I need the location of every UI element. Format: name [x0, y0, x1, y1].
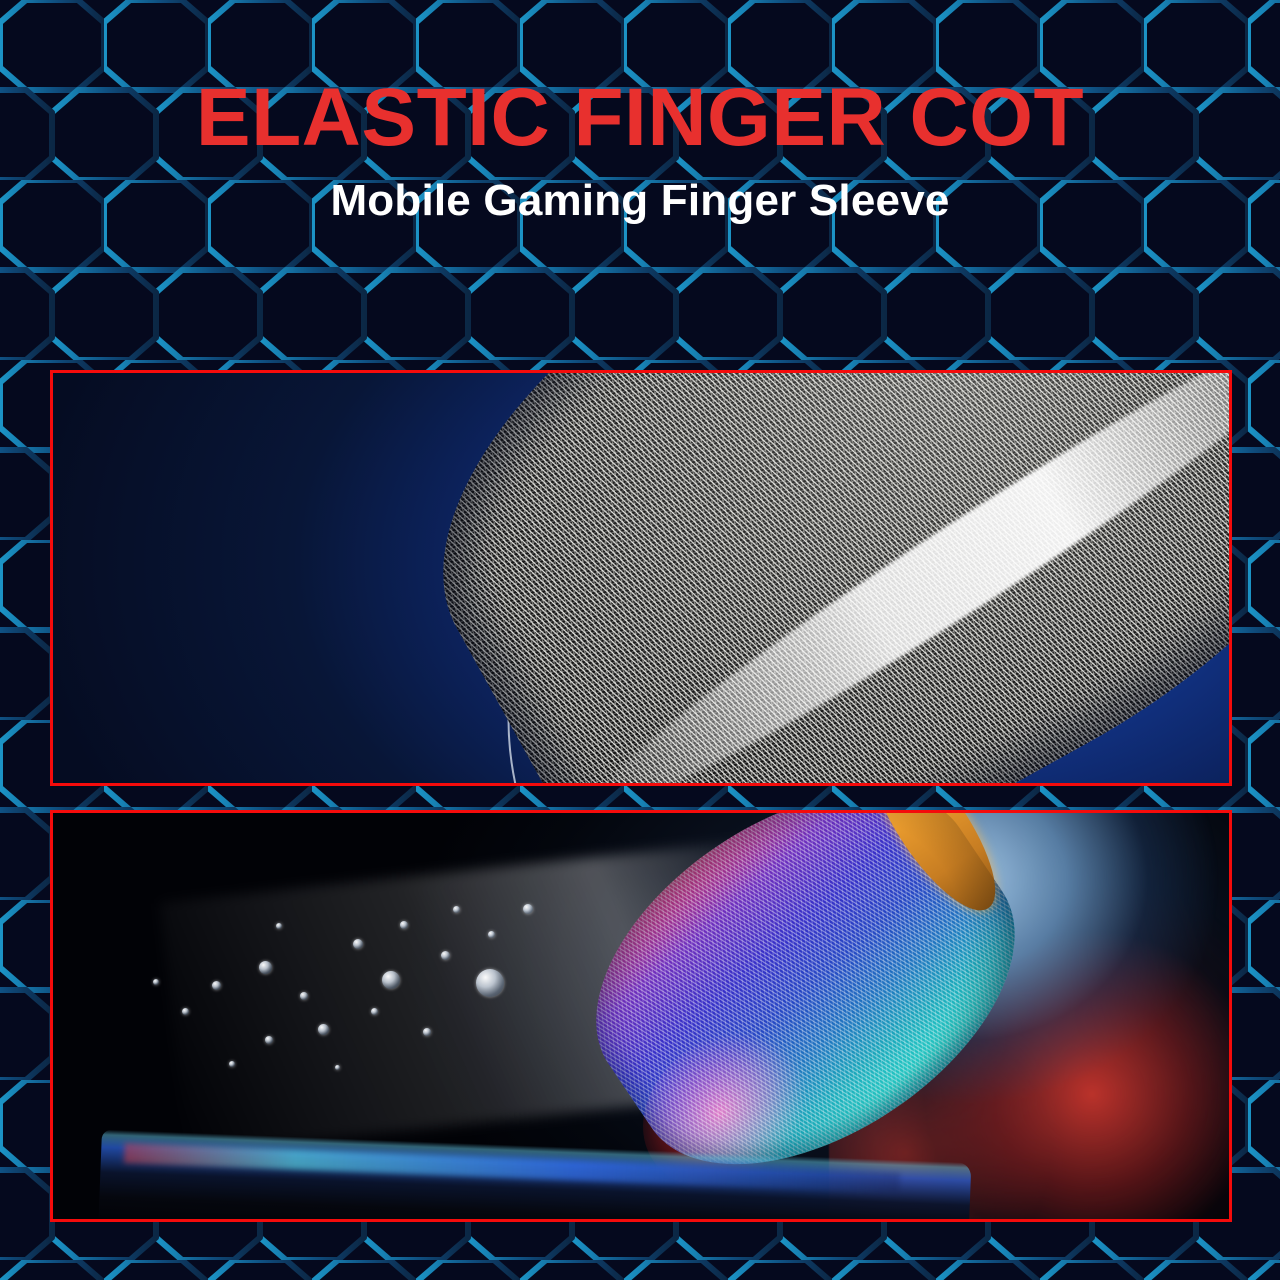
- feature-panel-comfortable-material: Comfortable material Use conductive silv…: [50, 370, 1232, 786]
- product-infographic: ELASTIC FINGER COT Mobile Gaming Finger …: [0, 0, 1280, 1280]
- panel-1-artwork: [53, 373, 1229, 783]
- feature-panel-good-breathable: Good Breathable 40% Thinner than competi…: [50, 810, 1232, 1222]
- panel-2-artwork: [53, 813, 1229, 1219]
